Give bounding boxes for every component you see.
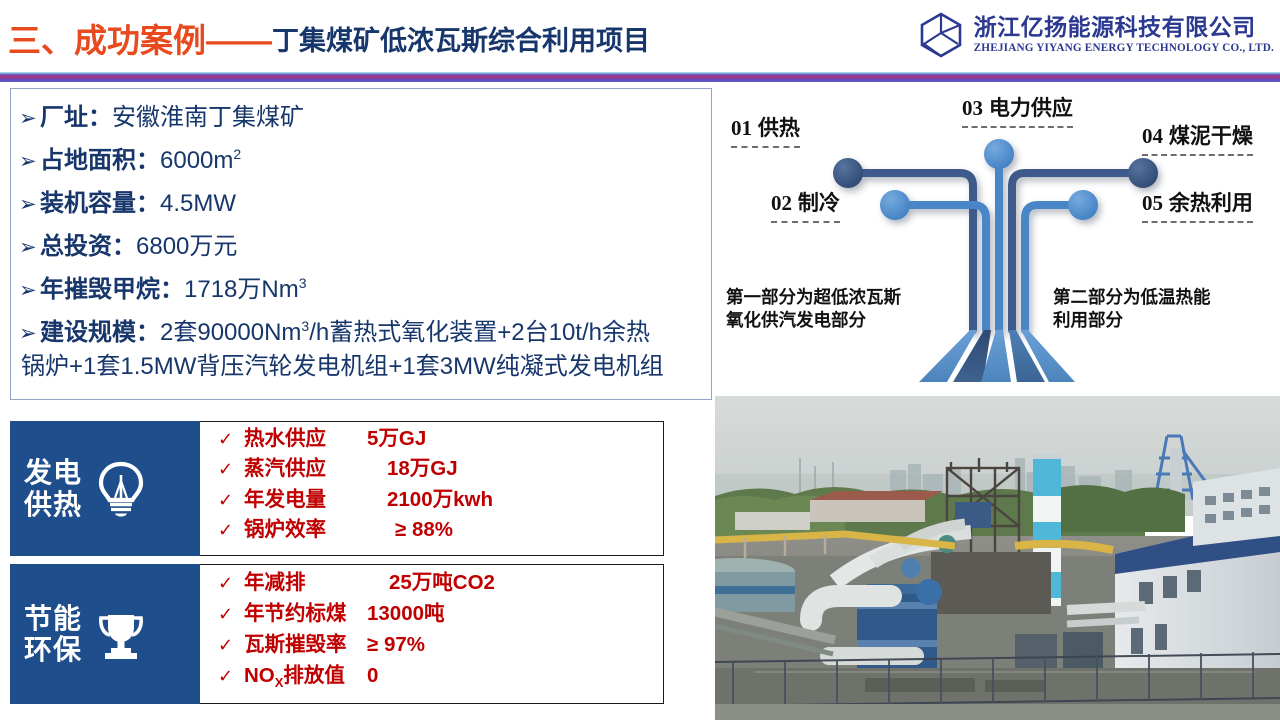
check-icon: ✓: [218, 667, 244, 685]
feature-badge-line1: 发电: [24, 457, 82, 488]
feature-label: 年减排: [244, 573, 367, 594]
spec-key: 年摧毁甲烷：: [40, 269, 184, 304]
energy-branch-diagram: 01 供热 02 制冷 03 电力供应 04 煤泥干燥 05 余热利用 第一部分…: [715, 84, 1280, 396]
feature-row: ✓ 年发电量 2100万kwh: [218, 490, 653, 520]
diagram-caption-right-line1: 第二部分为低温热能: [1053, 286, 1211, 309]
feature-row: ✓ NOX排放值 0: [218, 666, 653, 697]
diagram-label-02: 02 制冷: [771, 187, 840, 217]
spec-value: 4.5MW: [160, 190, 236, 218]
spec-value-text: 1718万Nm: [184, 276, 299, 303]
diagram-caption-right-line2: 利用部分: [1053, 309, 1211, 332]
feature-label-nox-post: 排放值: [283, 664, 345, 687]
label-dash-underline: [731, 146, 800, 148]
feature-badge-eco: 节能 环保: [10, 564, 200, 704]
spec-row: ➢ 装机容量： 4.5MW: [19, 183, 705, 226]
logo-company-cn: 浙江亿扬能源科技有限公司: [974, 15, 1274, 40]
spec-value: 1718万Nm3: [184, 269, 307, 304]
spec-value: 2套90000Nm3/h蓄热式氧化装置+2台10t/h余热: [160, 312, 650, 347]
page-title: 三、成功案例——丁集煤矿低浓瓦斯综合利用项目: [8, 14, 650, 62]
feature-value: 5万GJ: [367, 429, 426, 450]
feature-label: 瓦斯摧毁率: [244, 635, 367, 656]
diagram-label-03: 03 电力供应: [962, 92, 1073, 122]
hexagon-cube-logo-icon: [917, 11, 965, 59]
spec-row: ➢ 总投资： 6800万元: [19, 226, 705, 269]
feature-badge-label: 节能 环保: [24, 603, 82, 666]
spec-scale-line2: 锅炉+1套1.5MW背压汽轮发电机组+1套3MW纯凝式发电机组: [19, 355, 705, 379]
label-dash-underline: [962, 126, 1073, 128]
page-title-primary: 三、成功案例——: [8, 22, 272, 59]
spec-scale-value-b: /h蓄热式氧化装置+2台10t/h余热: [309, 319, 650, 346]
spec-key: 厂址：: [40, 97, 112, 132]
feature-value: ≥ 88%: [367, 520, 453, 541]
label-dash-underline: [1142, 154, 1253, 156]
bullet-arrow-icon: ➢: [19, 108, 40, 129]
feature-value: 18万GJ: [367, 459, 458, 480]
diagram-label-02-num: 02: [771, 191, 792, 215]
feature-value: 2100万kwh: [367, 490, 493, 511]
project-site-photo: [715, 396, 1280, 720]
feature-badge-label: 发电 供热: [24, 457, 82, 520]
feature-value: 0: [367, 666, 378, 687]
bullet-arrow-icon: ➢: [19, 323, 40, 344]
feature-badge-line2: 环保: [24, 634, 82, 665]
spec-value: 安徽淮南丁集煤矿: [112, 97, 304, 132]
diagram-label-03-text: 电力供应: [989, 97, 1073, 120]
feature-list-power: ✓ 热水供应 5万GJ ✓ 蒸汽供应 18万GJ ✓ 年发电量 2100万kwh…: [200, 421, 664, 556]
feature-row: ✓ 蒸汽供应 18万GJ: [218, 459, 653, 489]
diagram-node-02: [880, 190, 910, 220]
lightbulb-icon: [88, 456, 154, 522]
feature-label: 锅炉效率: [244, 520, 367, 541]
feature-label: 年发电量: [244, 490, 367, 511]
feature-list-eco: ✓ 年减排 25万吨CO2 ✓ 年节约标煤 13000吨 ✓ 瓦斯摧毁率 ≥ 9…: [200, 564, 664, 704]
diagram-caption-left-line2: 氧化供汽发电部分: [726, 309, 901, 332]
diagram-label-05-text: 余热利用: [1169, 192, 1253, 215]
diagram-node-04: [1128, 158, 1158, 188]
feature-row: ✓ 年减排 25万吨CO2: [218, 573, 653, 604]
check-icon: ✓: [218, 521, 244, 539]
site-photo-illustration: [715, 396, 1280, 720]
feature-label: 年节约标煤: [244, 604, 367, 625]
feature-label-nox-pre: NO: [244, 664, 275, 687]
spec-key: 总投资：: [40, 226, 136, 261]
feature-panel-power: 发电 供热 ✓ 热水供应 5万GJ: [10, 421, 664, 556]
spec-key: 建设规模：: [40, 312, 160, 347]
bullet-arrow-icon: ➢: [19, 151, 40, 172]
spec-value-text: 6000m: [160, 147, 233, 174]
feature-row: ✓ 锅炉效率 ≥ 88%: [218, 520, 653, 550]
spec-row: ➢ 年摧毁甲烷： 1718万Nm3: [19, 269, 705, 312]
check-icon: ✓: [218, 574, 244, 592]
diagram-label-01-num: 01: [731, 116, 752, 140]
diagram-label-04-text: 煤泥干燥: [1169, 125, 1253, 148]
feature-value: ≥ 97%: [367, 635, 425, 656]
feature-badge-power: 发电 供热: [10, 421, 200, 556]
label-dash-underline: [771, 221, 840, 223]
diagram-caption-left-line1: 第一部分为超低浓瓦斯: [726, 286, 901, 309]
trophy-icon: [88, 601, 154, 667]
diagram-node-05: [1068, 190, 1098, 220]
check-icon: ✓: [218, 430, 244, 448]
feature-panel-eco: 节能 环保 ✓ 年减排 25万吨CO2 ✓: [10, 564, 664, 704]
check-icon: ✓: [218, 491, 244, 509]
feature-row: ✓ 瓦斯摧毁率 ≥ 97%: [218, 635, 653, 666]
company-logo: 浙江亿扬能源科技有限公司 ZHEJIANG YIYANG ENERGY TECH…: [917, 4, 1274, 66]
feature-row: ✓ 年节约标煤 13000吨: [218, 604, 653, 635]
check-icon: ✓: [218, 460, 244, 478]
spec-row-scale: ➢ 建设规模： 2套90000Nm3/h蓄热式氧化装置+2台10t/h余热: [19, 312, 705, 355]
spec-scale-value-a: 2套90000Nm: [160, 319, 301, 346]
diagram-label-05: 05 余热利用: [1142, 187, 1253, 217]
spec-value: 6800万元: [136, 226, 237, 261]
diagram-label-03-num: 03: [962, 96, 983, 120]
spec-row: ➢ 占地面积： 6000m2: [19, 140, 705, 183]
diagram-node-03: [984, 139, 1014, 169]
diagram-label-01: 01 供热: [731, 112, 800, 142]
feature-label: 蒸汽供应: [244, 459, 367, 480]
diagram-label-02-text: 制冷: [798, 192, 840, 215]
spec-value: 6000m2: [160, 146, 241, 175]
slide-header: 三、成功案例——丁集煤矿低浓瓦斯综合利用项目 浙江亿扬能源科技有限公司 ZHEJ…: [0, 0, 1280, 72]
diagram-caption-left: 第一部分为超低浓瓦斯 氧化供汽发电部分: [726, 286, 901, 332]
logo-text-block: 浙江亿扬能源科技有限公司 ZHEJIANG YIYANG ENERGY TECH…: [974, 15, 1274, 56]
diagram-caption-right: 第二部分为低温热能 利用部分: [1053, 286, 1211, 332]
label-dash-underline: [1142, 221, 1253, 223]
check-icon: ✓: [218, 605, 244, 623]
bullet-arrow-icon: ➢: [19, 237, 40, 258]
diagram-label-04-num: 04: [1142, 124, 1163, 148]
bullet-arrow-icon: ➢: [19, 194, 40, 215]
diagram-label-01-text: 供热: [758, 117, 800, 140]
page-title-secondary: 丁集煤矿低浓瓦斯综合利用项目: [272, 26, 650, 56]
feature-badge-line2: 供热: [24, 489, 82, 520]
feature-row: ✓ 热水供应 5万GJ: [218, 429, 653, 459]
feature-label-nox: NOX排放值: [244, 666, 367, 689]
project-spec-box: ➢ 厂址： 安徽淮南丁集煤矿 ➢ 占地面积： 6000m2 ➢ 装机容量： 4.…: [10, 88, 712, 400]
feature-badge-line1: 节能: [24, 603, 82, 634]
logo-company-en: ZHEJIANG YIYANG ENERGY TECHNOLOGY CO., L…: [974, 42, 1274, 55]
bullet-arrow-icon: ➢: [19, 280, 40, 301]
header-divider: [0, 72, 1280, 82]
diagram-root-fan: [919, 330, 1075, 382]
feature-value: 13000吨: [367, 604, 445, 625]
check-icon: ✓: [218, 636, 244, 654]
feature-value: 25万吨CO2: [367, 573, 495, 594]
diagram-node-01: [833, 158, 863, 188]
spec-key: 占地面积：: [40, 140, 160, 175]
spec-value-sup: 2: [233, 146, 241, 162]
diagram-label-04: 04 煤泥干燥: [1142, 120, 1253, 150]
slide-root: 三、成功案例——丁集煤矿低浓瓦斯综合利用项目 浙江亿扬能源科技有限公司 ZHEJ…: [0, 0, 1280, 720]
diagram-label-05-num: 05: [1142, 191, 1163, 215]
spec-row: ➢ 厂址： 安徽淮南丁集煤矿: [19, 97, 705, 140]
spec-value-sup: 3: [299, 275, 307, 291]
spec-key: 装机容量：: [40, 183, 160, 218]
feature-label: 热水供应: [244, 429, 367, 450]
